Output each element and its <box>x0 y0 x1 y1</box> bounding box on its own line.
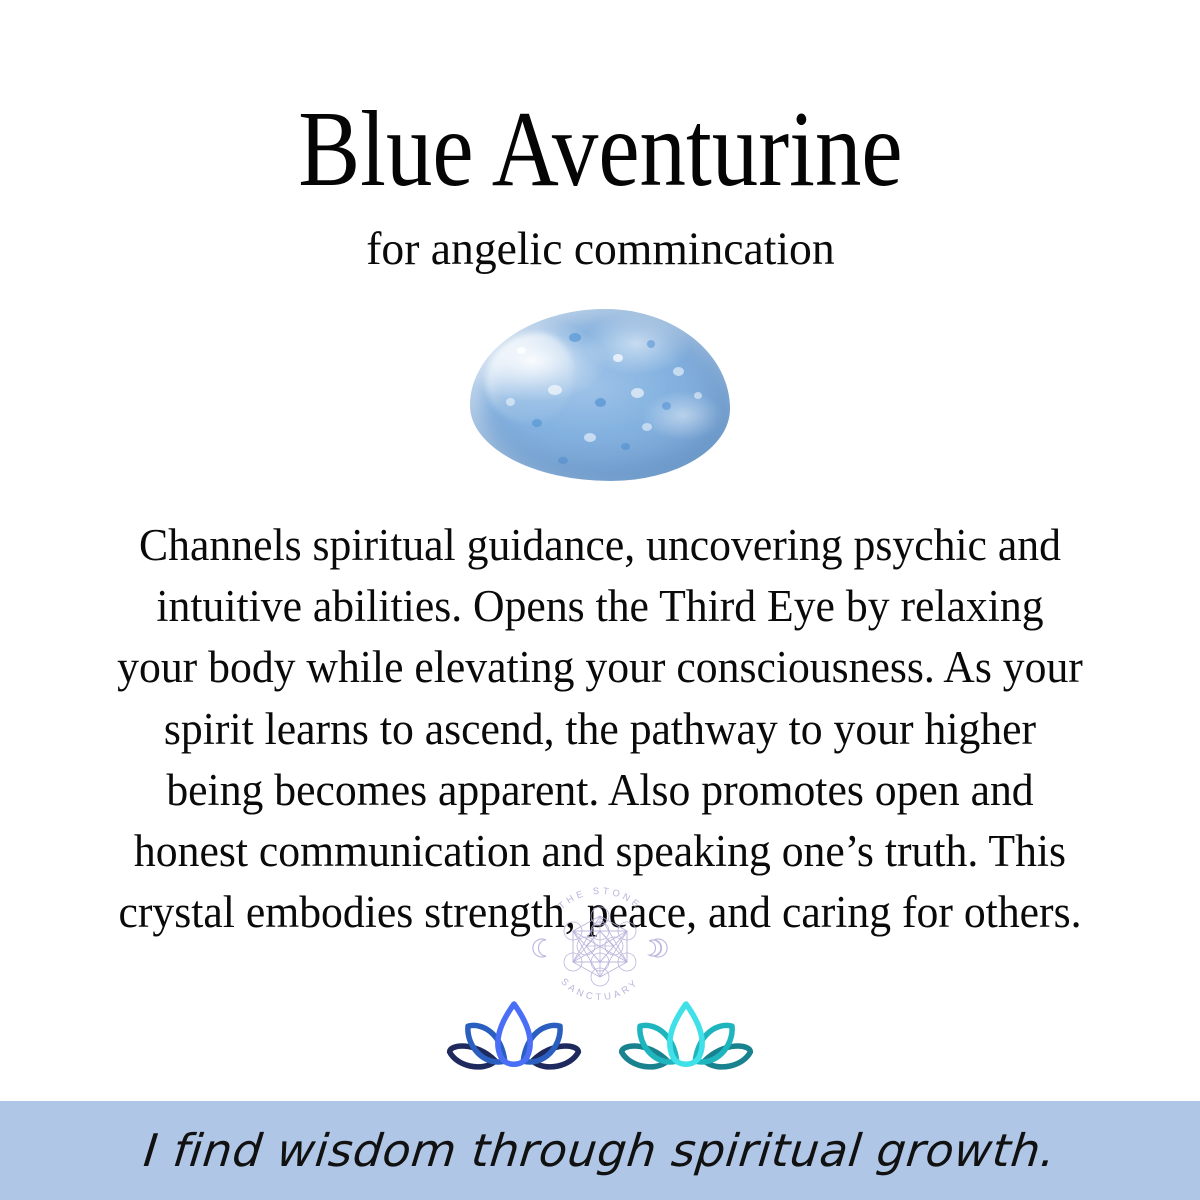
lotus-logo-teal <box>612 993 760 1085</box>
blue-aventurine-stone <box>470 309 730 481</box>
brand-watermark: THE STONE SANCTUARY <box>530 878 670 1006</box>
lotus-logo-row <box>440 993 760 1085</box>
page-subtitle: for angelic commincation <box>366 226 834 273</box>
stone-image <box>470 309 730 484</box>
waning-crescent-moon <box>533 939 546 957</box>
stone-highlight <box>486 333 574 422</box>
affirmation-banner: I find wisdom through spiritual growth. <box>0 1101 1200 1200</box>
lotus-logo-blue <box>440 993 588 1085</box>
svg-text:THE STONE: THE STONE <box>556 886 643 912</box>
affirmation-text: I find wisdom through spiritual growth. <box>141 1124 1058 1177</box>
crystal-info-card: Blue Aventurine for angelic commincation… <box>0 0 1200 1200</box>
watermark-top-text: THE STONE <box>556 886 643 912</box>
page-title: Blue Aventurine <box>298 96 902 204</box>
